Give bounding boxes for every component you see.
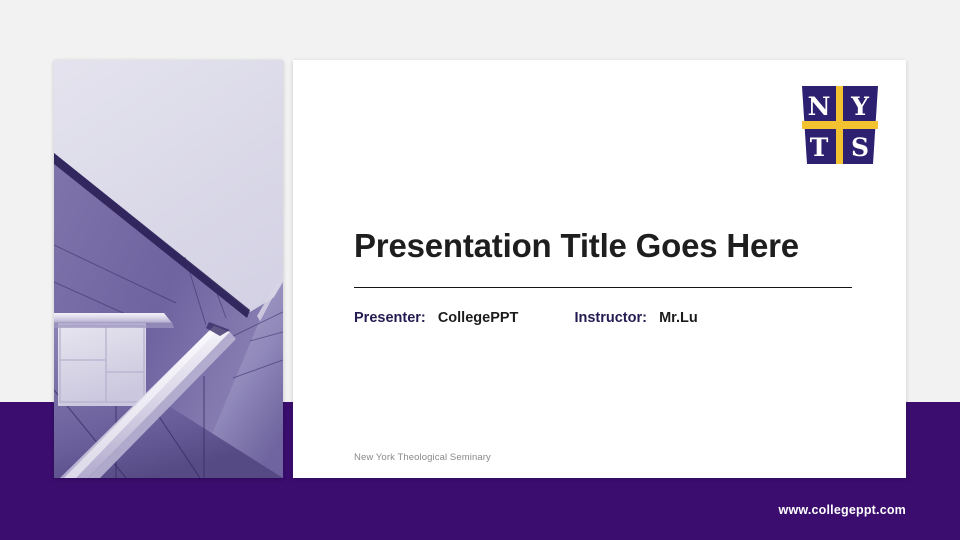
architecture-photo (54, 60, 283, 478)
title-divider (354, 287, 852, 288)
website-url: www.collegeppt.com (779, 503, 906, 517)
nyts-logo: N Y T S (801, 85, 879, 165)
presenter-label: Presenter: (354, 310, 426, 326)
logo-letter-y: Y (850, 92, 870, 121)
instructor-label: Instructor: (574, 310, 647, 326)
presenter-value: CollegePPT (438, 310, 519, 326)
instructor-value: Mr.Lu (659, 310, 698, 326)
logo-letter-s: S (851, 133, 869, 162)
page-title: Presentation Title Goes Here (354, 228, 874, 264)
logo-letter-t: T (810, 133, 829, 162)
presenter-meta-line: Presenter: CollegePPT Instructor: Mr.Lu (354, 310, 698, 326)
logo-letter-n: N (808, 92, 831, 121)
slide-footer-organization: New York Theological Seminary (354, 452, 491, 463)
slide-preview-canvas: www.collegeppt.com Presentation Title Go… (0, 0, 960, 540)
